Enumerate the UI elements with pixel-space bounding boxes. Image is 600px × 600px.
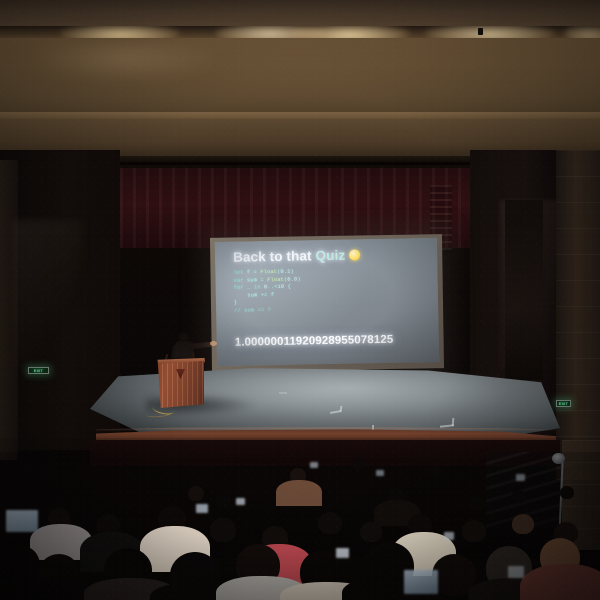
audience-head: [216, 494, 231, 508]
wall-highlight-left: [14, 220, 84, 370]
tablet-screen-glow: [404, 570, 438, 594]
presenter-head: [179, 333, 189, 342]
phone-screen-glow: [508, 566, 524, 578]
ceiling-fixture-nub: [478, 28, 483, 35]
right-wall-slats: [556, 150, 600, 480]
exit-sign-label: EXIT: [559, 402, 568, 406]
exit-sign-left: EXIT: [28, 367, 49, 374]
phone-screen-glow: [310, 462, 318, 468]
auditorium-photo: Back to that Quiz let f = Float(0.1) var…: [0, 0, 600, 600]
exit-sign-right: EXIT: [556, 400, 571, 407]
audience-head: [430, 466, 442, 477]
audience-head: [0, 544, 40, 586]
exit-sign-label: EXIT: [34, 369, 43, 373]
audience-head: [360, 522, 382, 542]
audience-head: [512, 514, 534, 534]
phone-screen-glow: [196, 504, 208, 513]
audience-shoulders: [276, 480, 322, 506]
phone-screen-glow: [236, 498, 245, 505]
phone-screen-glow: [376, 470, 384, 476]
audience-head: [318, 512, 342, 534]
audience-head: [210, 518, 236, 542]
projection-screen: Back to that Quiz let f = Float(0.1) var…: [215, 238, 439, 366]
screen-vignette: [215, 238, 439, 366]
phone-screen-glow: [336, 548, 349, 558]
seated-audience: [0, 452, 600, 600]
audience-head: [512, 490, 526, 503]
phone-screen-glow: [516, 474, 525, 481]
presenter-hand: [210, 341, 217, 346]
side-column-right: [505, 200, 543, 380]
audience-head: [560, 486, 574, 499]
wooden-podium: [157, 361, 204, 408]
phone-screen-glow: [444, 532, 454, 540]
audience-head: [352, 458, 365, 470]
audience-head: [462, 520, 486, 542]
audience-head: [470, 496, 485, 510]
stage-tape-mark: [279, 392, 287, 394]
audience-shoulders: [520, 564, 600, 600]
soffit-light-wash: [30, 42, 220, 82]
audience-head: [188, 486, 204, 501]
laptop-screen-glow: [6, 510, 38, 532]
